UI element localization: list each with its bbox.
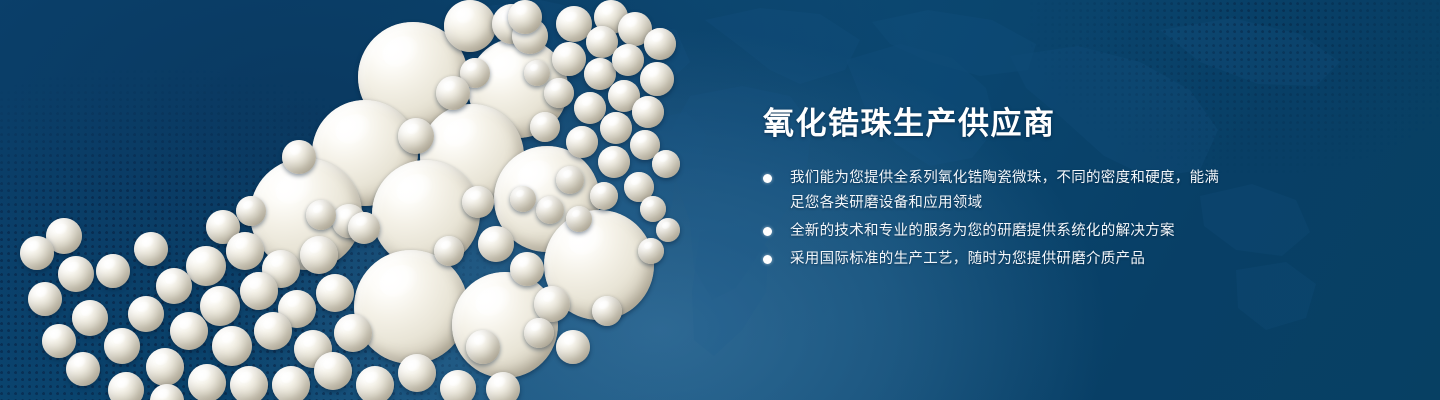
feature-text: 采用国际标准的生产工艺，随时为您提供研磨介质产品	[790, 251, 1145, 267]
zirconia-beads-image	[0, 0, 720, 400]
feature-text: 全新的技术和专业的服务为您的研磨提供系统化的解决方案	[790, 223, 1175, 239]
hero-banner: 氧化锆珠生产供应商 我们能为您提供全系列氧化锆陶瓷微珠，不同的密度和硬度，能满足…	[0, 0, 1440, 400]
bullet-dot-icon	[763, 227, 772, 236]
bullet-dot-icon	[763, 174, 772, 183]
banner-content: 氧化锆珠生产供应商 我们能为您提供全系列氧化锆陶瓷微珠，不同的密度和硬度，能满足…	[763, 104, 1223, 275]
feature-list: 我们能为您提供全系列氧化锆陶瓷微珠，不同的密度和硬度，能满足您各类研磨设备和应用…	[763, 166, 1223, 272]
bullet-dot-icon	[763, 255, 772, 264]
feature-text: 我们能为您提供全系列氧化锆陶瓷微珠，不同的密度和硬度，能满足您各类研磨设备和应用…	[790, 170, 1219, 211]
banner-title: 氧化锆珠生产供应商	[763, 104, 1223, 144]
feature-item-2: 全新的技术和专业的服务为您的研磨提供系统化的解决方案	[763, 219, 1223, 244]
feature-item-3: 采用国际标准的生产工艺，随时为您提供研磨介质产品	[763, 247, 1223, 272]
feature-item-1: 我们能为您提供全系列氧化锆陶瓷微珠，不同的密度和硬度，能满足您各类研磨设备和应用…	[763, 166, 1223, 216]
